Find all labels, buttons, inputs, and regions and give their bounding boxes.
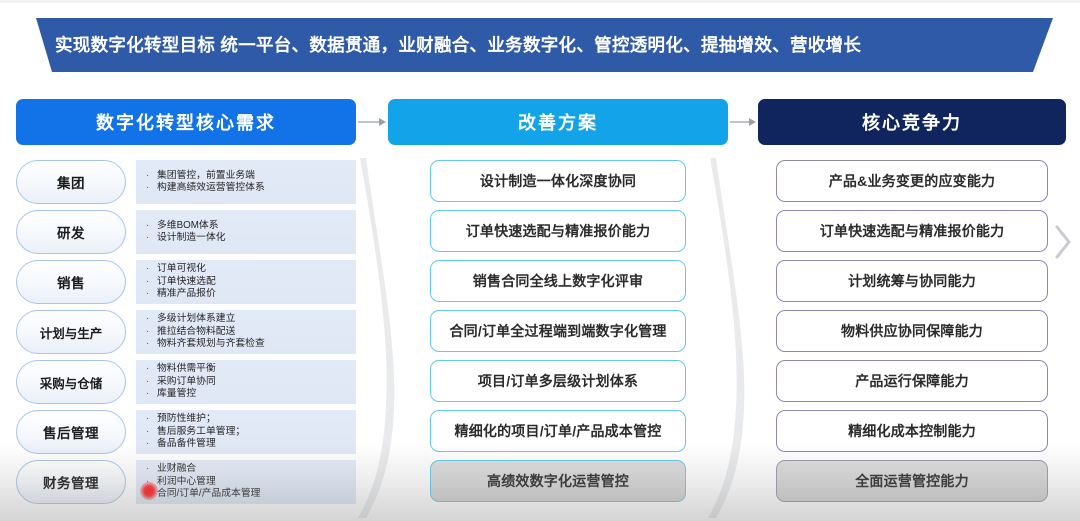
requirement-bullet-text: 业财融合 bbox=[157, 463, 196, 475]
competency-box[interactable]: 产品运行保障能力 bbox=[776, 360, 1048, 402]
requirement-detail-box: ·预防性维护； ·售后服务工单管理； ·备品备件管理 bbox=[136, 410, 356, 454]
requirement-bullet-text: 集团管控，前置业务端 bbox=[157, 170, 255, 182]
requirement-bullet: ·精准产品报价 bbox=[146, 288, 350, 300]
requirement-name-label: 财务管理 bbox=[43, 472, 99, 492]
bullet-dot-icon: · bbox=[146, 388, 157, 400]
requirement-bullet: ·售后服务工单管理； bbox=[146, 426, 350, 438]
improvement-box-label: 订单快速选配与精准报价能力 bbox=[466, 221, 651, 241]
improvement-box[interactable]: 项目/订单多层级计划体系 bbox=[430, 360, 686, 402]
arrow-line bbox=[730, 121, 749, 123]
competency-box[interactable]: 订单快速选配与精准报价能力 bbox=[776, 210, 1048, 252]
bullet-dot-icon: · bbox=[146, 263, 157, 275]
requirement-bullet: ·集团管控，前置业务端 bbox=[146, 170, 350, 182]
requirement-name-pill[interactable]: 售后管理 bbox=[16, 410, 126, 454]
requirement-row[interactable]: 财务管理 ·业财融合 ·利润中心管理 ·合同/订单/产品成本管理 bbox=[16, 460, 356, 504]
requirement-bullet: ·多维BOM体系 bbox=[146, 220, 350, 232]
requirement-detail-box: ·订单可视化 ·订单快速选配 ·精准产品报价 bbox=[136, 260, 356, 304]
requirement-bullet: ·多级计划体系建立 bbox=[146, 313, 350, 325]
improvement-box[interactable]: 订单快速选配与精准报价能力 bbox=[430, 210, 686, 252]
requirement-row[interactable]: 集团 ·集团管控，前置业务端 ·构建高绩效运营管控体系 bbox=[16, 160, 356, 204]
requirement-row[interactable]: 售后管理 ·预防性维护； ·售后服务工单管理； ·备品备件管理 bbox=[16, 410, 356, 454]
bullet-dot-icon: · bbox=[146, 488, 157, 500]
requirement-bullet-text: 利润中心管理 bbox=[157, 476, 216, 488]
bullet-dot-icon: · bbox=[146, 170, 157, 182]
competency-box-label: 精细化成本控制能力 bbox=[848, 421, 976, 441]
requirement-bullet-text: 物料齐套规划与齐套检查 bbox=[157, 338, 265, 350]
arrow-right-icon-1 bbox=[358, 120, 386, 124]
improvement-box[interactable]: 高绩效数字化运营管控 bbox=[430, 460, 686, 502]
competency-box-label: 产品&业务变更的应变能力 bbox=[829, 171, 996, 191]
requirement-name-pill[interactable]: 集团 bbox=[16, 160, 126, 204]
competency-box-label: 计划统筹与协同能力 bbox=[848, 271, 976, 291]
bullet-dot-icon: · bbox=[146, 326, 157, 338]
bullet-dot-icon: · bbox=[146, 426, 157, 438]
improvement-box[interactable]: 销售合同全线上数字化评审 bbox=[430, 260, 686, 302]
requirement-bullet: ·推拉结合物料配送 bbox=[146, 326, 350, 338]
requirement-name-pill[interactable]: 研发 bbox=[16, 210, 126, 254]
requirement-bullet: ·合同/订单/产品成本管理 bbox=[146, 488, 350, 500]
requirement-name-pill[interactable]: 计划与生产 bbox=[16, 310, 126, 354]
bullet-dot-icon: · bbox=[146, 438, 157, 450]
requirement-name-label: 计划与生产 bbox=[40, 323, 103, 342]
column-core-requirements: 集团 ·集团管控，前置业务端 ·构建高绩效运营管控体系 研发 ·多维BOM体系 … bbox=[16, 160, 356, 510]
header-core-competency-label: 核心竞争力 bbox=[862, 109, 962, 135]
bullet-dot-icon: · bbox=[146, 413, 157, 425]
arrow-head bbox=[379, 118, 386, 126]
requirement-row[interactable]: 研发 ·多维BOM体系 ·设计制造一体化 bbox=[16, 210, 356, 254]
header-improvement-plan[interactable]: 改善方案 bbox=[388, 99, 728, 145]
requirement-name-label: 售后管理 bbox=[43, 422, 99, 442]
requirement-bullet: ·业财融合 bbox=[146, 463, 350, 475]
requirement-bullet: ·预防性维护； bbox=[146, 413, 350, 425]
bullet-dot-icon: · bbox=[146, 182, 157, 194]
bullet-dot-icon: · bbox=[146, 376, 157, 388]
bullet-dot-icon: · bbox=[146, 220, 157, 232]
competency-box-label: 产品运行保障能力 bbox=[855, 371, 969, 391]
requirement-bullet: ·物料齐套规划与齐套检查 bbox=[146, 338, 350, 350]
requirement-detail-box: ·多级计划体系建立 ·推拉结合物料配送 ·物料齐套规划与齐套检查 bbox=[136, 310, 356, 354]
requirement-row[interactable]: 销售 ·订单可视化 ·订单快速选配 ·精准产品报价 bbox=[16, 260, 356, 304]
bullet-dot-icon: · bbox=[146, 338, 157, 350]
requirement-bullet: ·采购订单协同 bbox=[146, 376, 350, 388]
goal-banner: 实现数字化转型目标 统一平台、数据贯通，业财融合、业务数字化、管控透明化、提抽增… bbox=[0, 18, 1080, 72]
requirement-name-label: 研发 bbox=[57, 222, 85, 242]
improvement-box[interactable]: 设计制造一体化深度协同 bbox=[430, 160, 686, 202]
improvement-box-label: 高绩效数字化运营管控 bbox=[487, 471, 629, 491]
improvement-box-label: 项目/订单多层级计划体系 bbox=[478, 371, 638, 391]
competency-box[interactable]: 产品&业务变更的应变能力 bbox=[776, 160, 1048, 202]
requirement-name-pill[interactable]: 销售 bbox=[16, 260, 126, 304]
bullet-dot-icon: · bbox=[146, 276, 157, 288]
requirement-detail-box: ·业财融合 ·利润中心管理 ·合同/订单/产品成本管理 bbox=[136, 460, 356, 504]
requirement-bullet-text: 推拉结合物料配送 bbox=[157, 326, 235, 338]
arrow-line bbox=[358, 121, 379, 123]
requirement-bullet-text: 备品备件管理 bbox=[157, 438, 216, 450]
improvement-box[interactable]: 精细化的项目/订单/产品成本管控 bbox=[430, 410, 686, 452]
requirement-bullet: ·备品备件管理 bbox=[146, 438, 350, 450]
requirement-name-label: 销售 bbox=[57, 272, 85, 292]
requirement-bullet-text: 物料供需平衡 bbox=[157, 363, 216, 375]
improvement-box-label: 销售合同全线上数字化评审 bbox=[473, 271, 643, 291]
arrow-right-icon-2 bbox=[730, 120, 756, 124]
requirement-name-label: 采购与仓储 bbox=[40, 373, 103, 392]
requirement-bullet: ·物料供需平衡 bbox=[146, 363, 350, 375]
competency-box[interactable]: 物料供应协同保障能力 bbox=[776, 310, 1048, 352]
competency-box-label: 物料供应协同保障能力 bbox=[841, 321, 983, 341]
bullet-dot-icon: · bbox=[146, 232, 157, 244]
requirement-bullet-text: 售后服务工单管理； bbox=[157, 426, 245, 438]
requirement-bullet-text: 库量管控 bbox=[157, 388, 196, 400]
improvement-box-label: 精细化的项目/订单/产品成本管控 bbox=[455, 421, 662, 441]
header-core-competency[interactable]: 核心竞争力 bbox=[758, 99, 1066, 145]
bullet-dot-icon: · bbox=[146, 463, 157, 475]
chevron-right-icon[interactable] bbox=[1052, 222, 1074, 262]
divider-ribbon-2 bbox=[706, 158, 762, 518]
requirement-detail-box: ·集团管控，前置业务端 ·构建高绩效运营管控体系 bbox=[136, 160, 356, 204]
requirement-row[interactable]: 采购与仓储 ·物料供需平衡 ·采购订单协同 ·库量管控 bbox=[16, 360, 356, 404]
requirement-bullet-text: 订单快速选配 bbox=[157, 276, 216, 288]
requirement-detail-box: ·多维BOM体系 ·设计制造一体化 bbox=[136, 210, 356, 254]
arrow-head bbox=[749, 118, 756, 126]
competency-box-label: 订单快速选配与精准报价能力 bbox=[820, 221, 1005, 241]
requirement-bullet: ·订单快速选配 bbox=[146, 276, 350, 288]
requirement-bullet-text: 多级计划体系建立 bbox=[157, 313, 235, 325]
header-improvement-plan-label: 改善方案 bbox=[518, 109, 598, 135]
requirement-row[interactable]: 计划与生产 ·多级计划体系建立 ·推拉结合物料配送 ·物料齐套规划与齐套检查 bbox=[16, 310, 356, 354]
competency-box[interactable]: 计划统筹与协同能力 bbox=[776, 260, 1048, 302]
requirement-bullet-text: 采购订单协同 bbox=[157, 376, 216, 388]
divider-ribbon-1 bbox=[356, 158, 412, 518]
goal-banner-text: 实现数字化转型目标 统一平台、数据贯通，业财融合、业务数字化、管控透明化、提抽增… bbox=[55, 18, 861, 72]
requirement-name-pill[interactable]: 采购与仓储 bbox=[16, 360, 126, 404]
bullet-dot-icon: · bbox=[146, 363, 157, 375]
improvement-box-label: 合同/订单全过程端到端数字化管理 bbox=[449, 321, 666, 341]
requirement-name-label: 集团 bbox=[57, 172, 85, 192]
improvement-box-label: 设计制造一体化深度协同 bbox=[480, 171, 636, 191]
competency-box[interactable]: 全面运营管控能力 bbox=[776, 460, 1048, 502]
column-improvement-plan: 设计制造一体化深度协同 订单快速选配与精准报价能力 销售合同全线上数字化评审 合… bbox=[430, 160, 686, 510]
bullet-dot-icon: · bbox=[146, 288, 157, 300]
slide-canvas: 实现数字化转型目标 统一平台、数据贯通，业财融合、业务数字化、管控透明化、提抽增… bbox=[0, 0, 1080, 521]
bullet-dot-icon: · bbox=[146, 476, 157, 488]
requirement-bullet-text: 预防性维护； bbox=[157, 413, 216, 425]
requirement-bullet-text: 订单可视化 bbox=[157, 263, 206, 275]
requirement-bullet: ·订单可视化 bbox=[146, 263, 350, 275]
improvement-box[interactable]: 合同/订单全过程端到端数字化管理 bbox=[430, 310, 686, 352]
column-core-competency: 产品&业务变更的应变能力 订单快速选配与精准报价能力 计划统筹与协同能力 物料供… bbox=[776, 160, 1048, 510]
header-core-requirements[interactable]: 数字化转型核心需求 bbox=[16, 99, 356, 145]
requirement-bullet: ·库量管控 bbox=[146, 388, 350, 400]
requirement-bullet-text: 多维BOM体系 bbox=[157, 220, 219, 232]
requirement-detail-box: ·物料供需平衡 ·采购订单协同 ·库量管控 bbox=[136, 360, 356, 404]
requirement-bullet: ·设计制造一体化 bbox=[146, 232, 350, 244]
requirement-bullet: ·构建高绩效运营管控体系 bbox=[146, 182, 350, 194]
requirement-bullet-text: 合同/订单/产品成本管理 bbox=[157, 488, 260, 500]
requirement-bullet-text: 设计制造一体化 bbox=[157, 232, 226, 244]
requirement-bullet-text: 构建高绩效运营管控体系 bbox=[157, 182, 265, 194]
competency-box-label: 全面运营管控能力 bbox=[855, 471, 969, 491]
competency-box[interactable]: 精细化成本控制能力 bbox=[776, 410, 1048, 452]
requirement-bullet: ·利润中心管理 bbox=[146, 476, 350, 488]
header-core-requirements-label: 数字化转型核心需求 bbox=[96, 109, 276, 135]
requirement-name-pill[interactable]: 财务管理 bbox=[16, 460, 126, 504]
top-edge-line bbox=[0, 0, 1080, 3]
requirement-bullet-text: 精准产品报价 bbox=[157, 288, 216, 300]
bullet-dot-icon: · bbox=[146, 313, 157, 325]
